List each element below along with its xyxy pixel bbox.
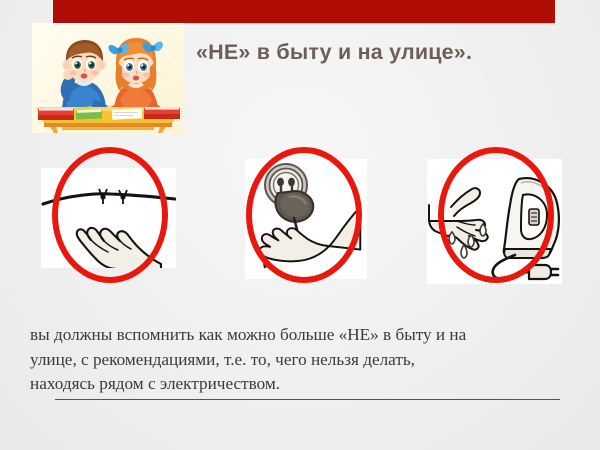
hand-reaching-power-line-icon [41, 168, 176, 268]
body-paragraph: вы должны вспомнить как можно больше «НЕ… [30, 323, 568, 397]
power-line-photo [41, 168, 176, 268]
circle-power-line[interactable] [28, 147, 198, 287]
circle-wet-hands-iron[interactable] [400, 147, 570, 287]
body-line-2: улице, с рекомендациями, т.е. то, чего н… [30, 348, 568, 373]
safety-icons-row [0, 147, 600, 287]
circle-pulling-plug[interactable] [215, 147, 385, 287]
children-illustration [32, 23, 184, 133]
body-line-3: находясь рядом с электричеством. [30, 372, 568, 397]
body-line-2-text: улице, с рекомендациями, т.е. то, чего н… [30, 348, 415, 373]
slide-title: «НЕ» в быту и на улице». [196, 31, 576, 73]
hand-pulling-plug-from-socket-icon [245, 159, 367, 279]
slide-root: «НЕ» в быту и на улице». [0, 0, 600, 450]
pulling-plug-photo [245, 159, 367, 279]
wet-hands-and-electric-iron-icon [427, 159, 562, 284]
top-red-banner [53, 0, 555, 24]
red-underline-rule [55, 399, 560, 400]
books-left [38, 108, 74, 120]
body-line-1: вы должны вспомнить как можно больше «НЕ… [30, 323, 568, 348]
electric-iron-shape [504, 178, 559, 258]
wet-hands-iron-photo [427, 159, 562, 284]
books-right [144, 107, 180, 119]
children-illustration-art [32, 23, 184, 133]
